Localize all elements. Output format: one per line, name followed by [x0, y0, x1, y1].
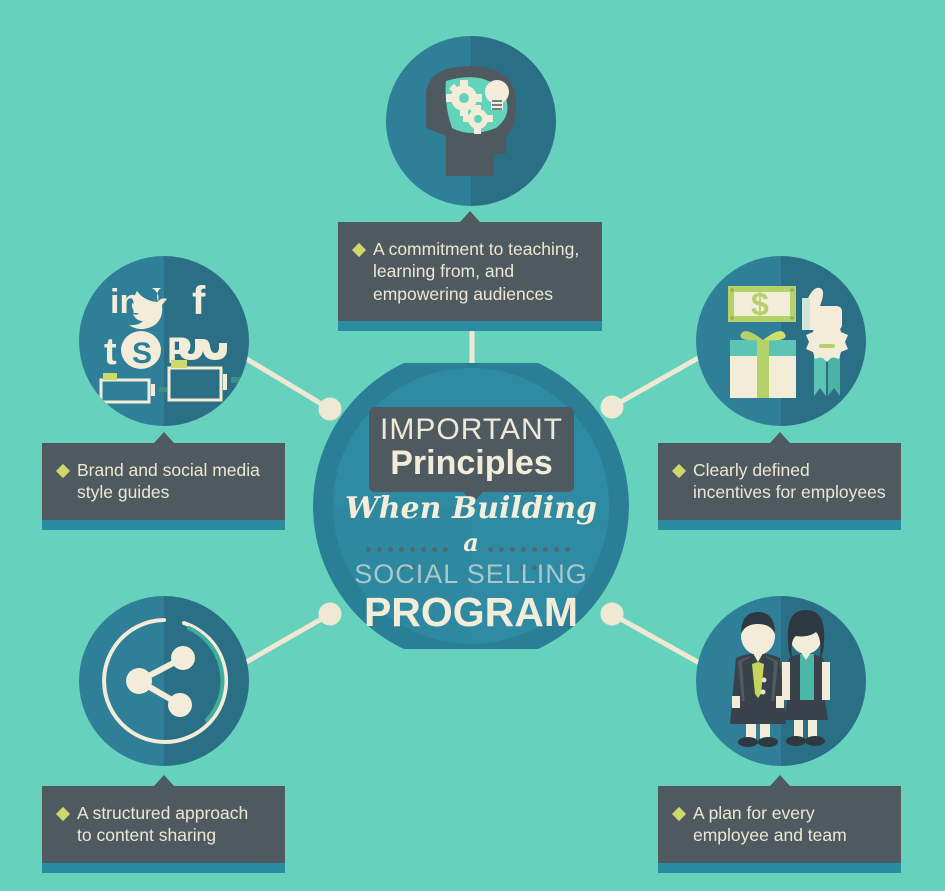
- dotted-rule-left: [365, 541, 455, 546]
- callout-bottom-left: A structured approach to content sharing: [42, 786, 285, 863]
- share-node-bottom: [168, 693, 192, 717]
- social-media-logos-icon: in f t S P: [79, 256, 249, 426]
- money-gift-reward-icon: $: [696, 256, 866, 426]
- share-node-left: [126, 668, 152, 694]
- callout-top: A commitment to teaching, learning from,…: [338, 222, 602, 321]
- callout-shadow-bar: [42, 863, 285, 873]
- callout-text: A commitment to teaching, learning from,…: [373, 238, 579, 305]
- dollar-bill: $: [728, 286, 796, 322]
- icon-circle-people: [696, 596, 866, 766]
- callout-line: employee and team: [693, 824, 847, 846]
- icon-circle-incentives: $: [696, 256, 866, 426]
- callout-line: learning from, and: [373, 260, 579, 282]
- share-network-icon: [79, 596, 249, 766]
- callout-shadow-bar: [42, 520, 285, 530]
- diamond-bullet-icon: [56, 464, 70, 478]
- callout-line: style guides: [77, 481, 260, 503]
- callout-line: empowering audiences: [373, 283, 579, 305]
- businesswoman: [782, 610, 830, 746]
- callout-notch: [460, 211, 480, 222]
- diamond-bullet-icon: [672, 807, 686, 821]
- tumblr-glyph: t: [104, 331, 117, 373]
- share-node-top: [171, 646, 195, 670]
- central-hub: IMPORTANT Principles When Building a SOC…: [313, 363, 629, 649]
- diamond-bullet-icon: [352, 243, 366, 257]
- hub-subtitle-text: SOCIAL SELLING: [313, 559, 629, 590]
- diamond-bullet-icon: [672, 464, 686, 478]
- gift-box: [730, 331, 796, 398]
- stumbleupon-glyph: [179, 339, 227, 360]
- businessman: [730, 612, 786, 747]
- skype-glyph: S: [132, 337, 152, 370]
- callout-shadow-bar: [338, 321, 602, 331]
- callout-notch: [770, 775, 790, 786]
- award-ribbon: [806, 322, 848, 396]
- hub-article-text: a: [463, 531, 479, 555]
- callout-text: Clearly defined incentives for employees: [693, 459, 886, 504]
- callout-shadow-bar: [658, 520, 901, 530]
- callout-notch: [154, 775, 174, 786]
- icon-circle-social-media: in f t S P: [79, 256, 249, 426]
- hub-title-group: IMPORTANT Principles When Building a SOC…: [313, 363, 629, 649]
- hub-script-text: When Building: [313, 491, 629, 526]
- head-brain-gears-lightbulb-icon: [386, 36, 556, 206]
- callout-middle-right: Clearly defined incentives for employees: [658, 443, 901, 520]
- two-people-employees-icon: [696, 596, 866, 766]
- diamond-bullet-icon: [56, 807, 70, 821]
- callout-line: A commitment to teaching,: [373, 238, 579, 260]
- callout-text: A structured approach to content sharing: [77, 802, 248, 847]
- callout-middle-left: Brand and social media style guides: [42, 443, 285, 520]
- icon-circle-brain: [386, 36, 556, 206]
- svg-text:$: $: [751, 286, 769, 322]
- facebook-glyph: f: [192, 279, 206, 323]
- callout-line: incentives for employees: [693, 481, 886, 503]
- callout-line: A structured approach: [77, 802, 248, 824]
- callout-line: Clearly defined: [693, 459, 886, 481]
- callout-line: to content sharing: [77, 824, 248, 846]
- callout-text: A plan for every employee and team: [693, 802, 847, 847]
- hub-tag: IMPORTANT Principles: [369, 407, 574, 492]
- hub-principles-text: Principles: [369, 446, 574, 482]
- callout-notch: [154, 432, 174, 443]
- callout-shadow-bar: [658, 863, 901, 873]
- callout-bottom-right: A plan for every employee and team: [658, 786, 901, 863]
- infographic-canvas: IMPORTANT Principles When Building a SOC…: [0, 0, 945, 891]
- dotted-rule-right: [487, 541, 577, 546]
- callout-line: Brand and social media: [77, 459, 260, 481]
- callout-notch: [770, 432, 790, 443]
- hub-maintitle-text: PROGRAM: [313, 589, 629, 636]
- hub-article-row: a: [313, 531, 629, 555]
- callout-text: Brand and social media style guides: [77, 459, 260, 504]
- icon-circle-share: [79, 596, 249, 766]
- callout-line: A plan for every: [693, 802, 847, 824]
- thumbs-up-icon: [802, 288, 842, 330]
- hub-important-text: IMPORTANT: [369, 415, 574, 445]
